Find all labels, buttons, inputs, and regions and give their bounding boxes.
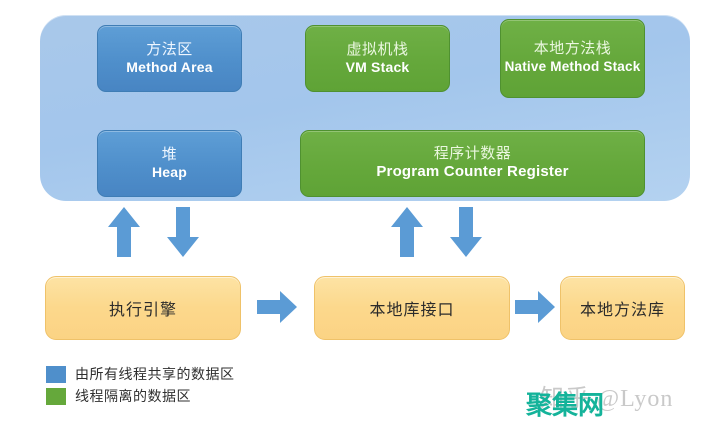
watermark-brand-text: 聚集网	[526, 385, 604, 422]
memory-box-method-area: 方法区 Method Area	[97, 25, 242, 92]
jvm-memory-structure-diagram: 方法区 Method Area 虚拟机栈 VM Stack 本地方法栈 Nati…	[0, 0, 720, 423]
arrow-right-icon	[256, 290, 298, 324]
legend-swatch-green	[46, 388, 66, 405]
native-method-stack-label-cn: 本地方法栈	[534, 41, 612, 58]
memory-box-vm-stack: 虚拟机栈 VM Stack	[305, 25, 450, 92]
program-counter-label-cn: 程序计数器	[434, 146, 512, 163]
arrow-up-icon	[390, 206, 424, 258]
method-area-label-en: Method Area	[126, 60, 212, 76]
heap-label-cn: 堆	[162, 147, 178, 164]
vm-stack-label-cn: 虚拟机栈	[346, 42, 408, 59]
native-library-interface-label: 本地库接口	[369, 296, 454, 320]
memory-box-program-counter-register: 程序计数器 Program Counter Register	[300, 130, 645, 197]
memory-box-native-method-stack: 本地方法栈 Native Method Stack	[500, 19, 645, 98]
native-method-library-label: 本地方法库	[580, 296, 665, 320]
legend-item-shared: 由所有线程共享的数据区	[46, 363, 235, 385]
legend-swatch-blue	[46, 366, 66, 383]
arrow-up-icon	[107, 206, 141, 258]
legend-label-shared: 由所有线程共享的数据区	[75, 364, 235, 384]
arrow-down-icon	[449, 206, 483, 258]
arrow-down-icon	[166, 206, 200, 258]
box-native-method-library: 本地方法库	[560, 276, 685, 340]
vm-stack-label-en: VM Stack	[346, 60, 410, 76]
program-counter-label-en: Program Counter Register	[376, 164, 568, 181]
watermark: 知乎 @Lyon 聚集网	[526, 376, 716, 418]
legend: 由所有线程共享的数据区 线程隔离的数据区	[46, 363, 235, 407]
legend-label-isolated: 线程隔离的数据区	[75, 386, 191, 406]
native-method-stack-label-en: Native Method Stack	[505, 59, 641, 75]
execution-engine-label: 执行引擎	[109, 296, 177, 320]
method-area-label-cn: 方法区	[146, 42, 193, 59]
arrow-right-icon	[514, 290, 556, 324]
box-native-library-interface: 本地库接口	[314, 276, 510, 340]
memory-box-heap: 堆 Heap	[97, 130, 242, 197]
legend-item-isolated: 线程隔离的数据区	[46, 385, 235, 407]
box-execution-engine: 执行引擎	[45, 276, 241, 340]
heap-label-en: Heap	[152, 165, 187, 181]
